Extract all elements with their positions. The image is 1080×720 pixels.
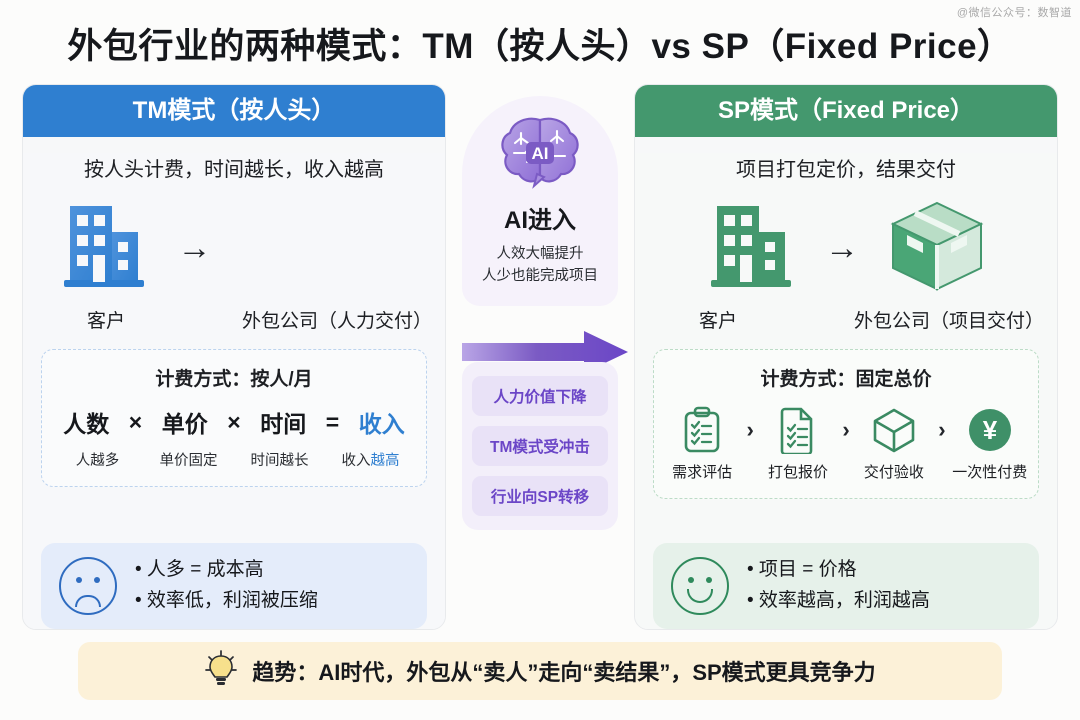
sp-flow-labels: 客户 外包公司（项目交付） [635,306,1057,333]
sad-face-icon [59,557,117,615]
chip-shift-to-sp[interactable]: 行业向SP转移 [472,476,608,516]
svg-text:AI: AI [532,144,549,163]
chip-labor-value-down[interactable]: 人力价值下降 [472,376,608,416]
yen-coin-icon: ¥ [952,405,1028,455]
sp-billing-box: 计费方式：固定总价 [653,349,1039,499]
sp-flow-arrow: → [825,231,859,265]
tm-formula-notes: 人越多 单价固定 时间越长 收入越高 [52,449,416,470]
sp-step-1: 需求评估 [664,405,740,482]
sp-mode-panel: SP模式（Fixed Price） 项目打包定价，结果交付 [634,84,1058,630]
tm-source-label: 客户 [26,306,186,333]
package-box-icon [885,197,989,300]
tm-outcome-line-1: • 人多 = 成本高 [135,555,318,586]
formula-result-revenue: 收入 [347,405,416,439]
ai-impact-chips: 人力价值下降 TM模式受冲击 行业向SP转移 [462,362,618,530]
tm-mode-panel: TM模式（按人头） 按人头计费，时间越长，收入越高 [22,84,446,630]
tm-flow-row: → [23,196,445,300]
sp-flow-row: → [635,196,1057,300]
sp-outcome-box: • 项目 = 价格 • 效率越高，利润越高 [653,543,1039,629]
formula-op-1: × [121,409,151,436]
step-chevron-icon: › [740,405,760,455]
sp-subtitle: 项目打包定价，结果交付 [635,153,1057,182]
office-building-icon [703,200,799,297]
infographic-root: @微信公众号：数智道 外包行业的两种模式：TM（按人头）vs SP（Fixed … [0,0,1080,720]
cube-icon [856,405,932,455]
sp-outcome-line-1: • 项目 = 价格 [747,555,930,586]
tm-panel-header: TM模式（按人头） [23,85,445,137]
ai-middle-column: AI AI进入 人效大幅提升 人少也能完成项目 [462,96,618,306]
tm-outcome-box: • 人多 = 成本高 • 效率低，利润被压缩 [41,543,427,629]
clipboard-check-icon [664,405,740,455]
sp-panel-header: SP模式（Fixed Price） [635,85,1057,137]
svg-text:¥: ¥ [983,415,998,445]
step-chevron-icon: › [932,405,952,455]
formula-note-2: 单价固定 [143,449,234,470]
sp-source-label: 客户 [638,306,798,333]
ai-card: AI AI进入 人效大幅提升 人少也能完成项目 [462,96,618,306]
happy-face-icon [671,557,729,615]
tm-formula: 人数 × 单价 × 时间 = 收入 [52,405,416,439]
formula-note-4: 收入越高 [325,449,416,470]
sp-outcome-lines: • 项目 = 价格 • 效率越高，利润越高 [747,555,930,617]
ai-brain-icon: AI [472,112,608,196]
formula-term-time: 时间 [249,405,318,439]
tm-target-label: 外包公司（人力交付） [232,306,442,333]
trend-banner-text: 趋势：AI时代，外包从“卖人”走向“卖结果”，SP模式更具竞争力 [252,655,875,687]
ai-sub-line-2: 人少也能完成项目 [472,265,608,287]
sp-step-3: 交付验收 [856,405,932,482]
sp-step-4: ¥ 一次性付费 [952,405,1028,482]
formula-op-equals: = [318,409,348,436]
document-check-icon [760,405,836,455]
page-title: 外包行业的两种模式：TM（按人头）vs SP（Fixed Price） [0,18,1080,69]
sp-step-4-label: 一次性付费 [952,461,1028,482]
tm-flow-arrow: → [178,231,212,265]
sp-target-label: 外包公司（项目交付） [844,306,1054,333]
chip-tm-impacted[interactable]: TM模式受冲击 [472,426,608,466]
sp-outcome-line-2: • 效率越高，利润越高 [747,586,930,617]
tm-billing-box: 计费方式：按人/月 人数 × 单价 × 时间 = 收入 人越多 单价固定 时间越… [41,349,427,487]
formula-note-1: 人越多 [52,449,143,470]
tm-flow-labels: 客户 外包公司（人力交付） [23,306,445,333]
formula-note-3: 时间越长 [234,449,325,470]
office-building-icon [56,200,152,297]
tm-outcome-line-2: • 效率低，利润被压缩 [135,586,318,617]
sp-step-2: 打包报价 [760,405,836,482]
sp-panel-body: 项目打包定价，结果交付 [635,153,1057,630]
sp-step-1-label: 需求评估 [664,461,740,482]
tm-billing-title: 计费方式：按人/月 [52,364,416,391]
sp-step-3-label: 交付验收 [856,461,932,482]
step-chevron-icon: › [836,405,856,455]
tm-panel-body: 按人头计费，时间越长，收入越高 [23,153,445,630]
formula-op-2: × [219,409,249,436]
tm-subtitle: 按人头计费，时间越长，收入越高 [23,153,445,182]
trend-banner: 趋势：AI时代，外包从“卖人”走向“卖结果”，SP模式更具竞争力 [78,642,1002,700]
sp-step-2-label: 打包报价 [760,461,836,482]
ai-heading: AI进入 [472,200,608,235]
sp-steps: 需求评估 › [664,405,1028,482]
formula-term-unitprice: 单价 [150,405,219,439]
sp-billing-title: 计费方式：固定总价 [664,364,1028,391]
tm-outcome-lines: • 人多 = 成本高 • 效率低，利润被压缩 [135,555,318,617]
lightbulb-icon [204,649,238,694]
ai-sub-lines: 人效大幅提升 人少也能完成项目 [472,243,608,288]
ai-sub-line-1: 人效大幅提升 [472,243,608,265]
formula-term-headcount: 人数 [52,405,121,439]
